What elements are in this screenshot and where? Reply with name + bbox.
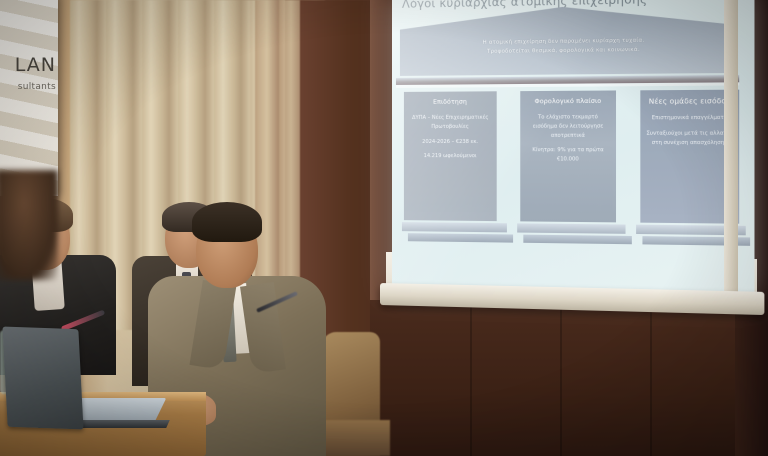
wood-panel-below-screen — [370, 300, 768, 456]
projection-screen-frame — [724, 0, 738, 292]
temple-roof-pediment: Η ατομική επιχείρηση δεν παραμένει κυρία… — [400, 4, 733, 76]
banner-logo-text: LAN — [15, 54, 56, 76]
temple-column-bases — [398, 222, 746, 257]
column-line: Το ελάχιστο τεκμαρτό εισόδημα δεν λειτού… — [525, 113, 610, 140]
column-body: Επιστημονικά επαγγέλματα Συνταξιούχοι με… — [646, 114, 734, 148]
wood-seam — [560, 300, 562, 456]
banner-subtitle-text: sultants — [18, 82, 56, 92]
column-title: Επιδότηση — [409, 98, 492, 107]
roof-text: Η ατομική επιχείρηση δεν παραμένει κυρία… — [400, 35, 733, 57]
presentation-slide: Λόγοι κυριαρχίας ατομικής επιχείρησης Η … — [392, 0, 754, 295]
column-line: 14.219 ωφελούμενοι — [409, 152, 492, 161]
column-body: ΔΥΠΑ – Νέες Επιχειρηματικές Πρωτοβουλίες… — [409, 114, 492, 162]
column-base — [517, 223, 625, 233]
column-base — [402, 222, 507, 232]
person-front-hair — [192, 202, 262, 242]
column-line: Συνταξιούχοι μετά τις αλλαγές στη συνέχι… — [646, 129, 734, 147]
rollup-banner: LAN sultants — [0, 0, 58, 196]
column-body: Το ελάχιστο τεκμαρτό εισόδημα δεν λειτού… — [525, 113, 610, 164]
projection-screen: Λόγοι κυριαρχίας ατομικής επιχείρησης Η … — [392, 0, 754, 295]
slide-column-forologiko-plaisio: Φορολογικό πλαίσιο Το ελάχιστο τεκμαρτό … — [520, 90, 616, 222]
column-title: Φορολογικό πλαίσιο — [525, 98, 610, 107]
column-title: Νέες ομάδες εισόδου — [646, 97, 734, 107]
column-line: 2024-2026 – €238 εκ. — [409, 138, 492, 147]
laptop-screen-lid[interactable] — [2, 327, 83, 430]
column-line: Κίνητρα: 9% για τα πρώτα €10.000 — [525, 146, 610, 164]
wood-seam — [650, 300, 652, 456]
temple-columns-group: Επιδότηση ΔΥΠΑ – Νέες Επιχειρηματικές Πρ… — [404, 90, 739, 224]
banner-foreground-blur — [0, 170, 58, 280]
wood-seam — [470, 300, 472, 456]
column-base-step — [408, 233, 513, 242]
column-base-step — [523, 235, 632, 245]
column-line: Επιστημονικά επαγγέλματα — [646, 114, 734, 123]
chair-seat — [318, 420, 390, 456]
column-line: ΔΥΠΑ – Νέες Επιχειρηματικές Πρωτοβουλίες — [409, 114, 492, 132]
presentation-room-photo: Λόγοι κυριαρχίας ατομικής επιχείρησης Η … — [0, 0, 768, 456]
slide-column-epidotisi: Επιδότηση ΔΥΠΑ – Νέες Επιχειρηματικές Πρ… — [404, 91, 497, 221]
